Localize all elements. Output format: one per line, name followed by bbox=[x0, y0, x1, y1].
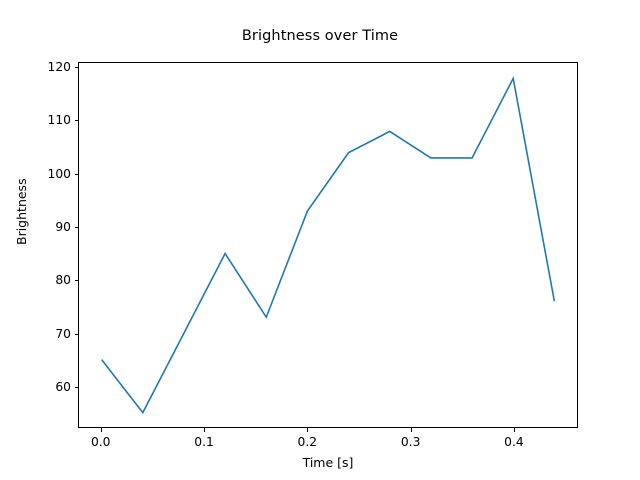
y-tick-label: 100 bbox=[31, 167, 71, 181]
x-tick-mark bbox=[204, 428, 205, 432]
figure-canvas: Brightness over Time Brightness Time [s]… bbox=[0, 0, 640, 480]
x-tick-mark bbox=[411, 428, 412, 432]
x-tick-label: 0.2 bbox=[277, 435, 337, 449]
plot-area bbox=[78, 62, 578, 428]
y-tick-label: 70 bbox=[31, 327, 71, 341]
x-tick-label: 0.1 bbox=[174, 435, 234, 449]
x-axis-label: Time [s] bbox=[78, 455, 578, 470]
chart-title: Brightness over Time bbox=[0, 28, 640, 44]
data-polyline bbox=[102, 78, 555, 412]
y-axis-label: Brightness bbox=[14, 178, 29, 245]
y-tick-label: 90 bbox=[31, 220, 71, 234]
x-tick-label: 0.4 bbox=[484, 435, 544, 449]
y-tick-label: 80 bbox=[31, 273, 71, 287]
x-tick-mark bbox=[307, 428, 308, 432]
x-tick-label: 0.0 bbox=[71, 435, 131, 449]
y-tick-label: 120 bbox=[31, 60, 71, 74]
x-tick-mark bbox=[101, 428, 102, 432]
x-tick-label: 0.3 bbox=[381, 435, 441, 449]
line-series-brightness bbox=[79, 63, 577, 427]
y-tick-label: 110 bbox=[31, 113, 71, 127]
y-tick-label: 60 bbox=[31, 380, 71, 394]
x-tick-mark bbox=[514, 428, 515, 432]
